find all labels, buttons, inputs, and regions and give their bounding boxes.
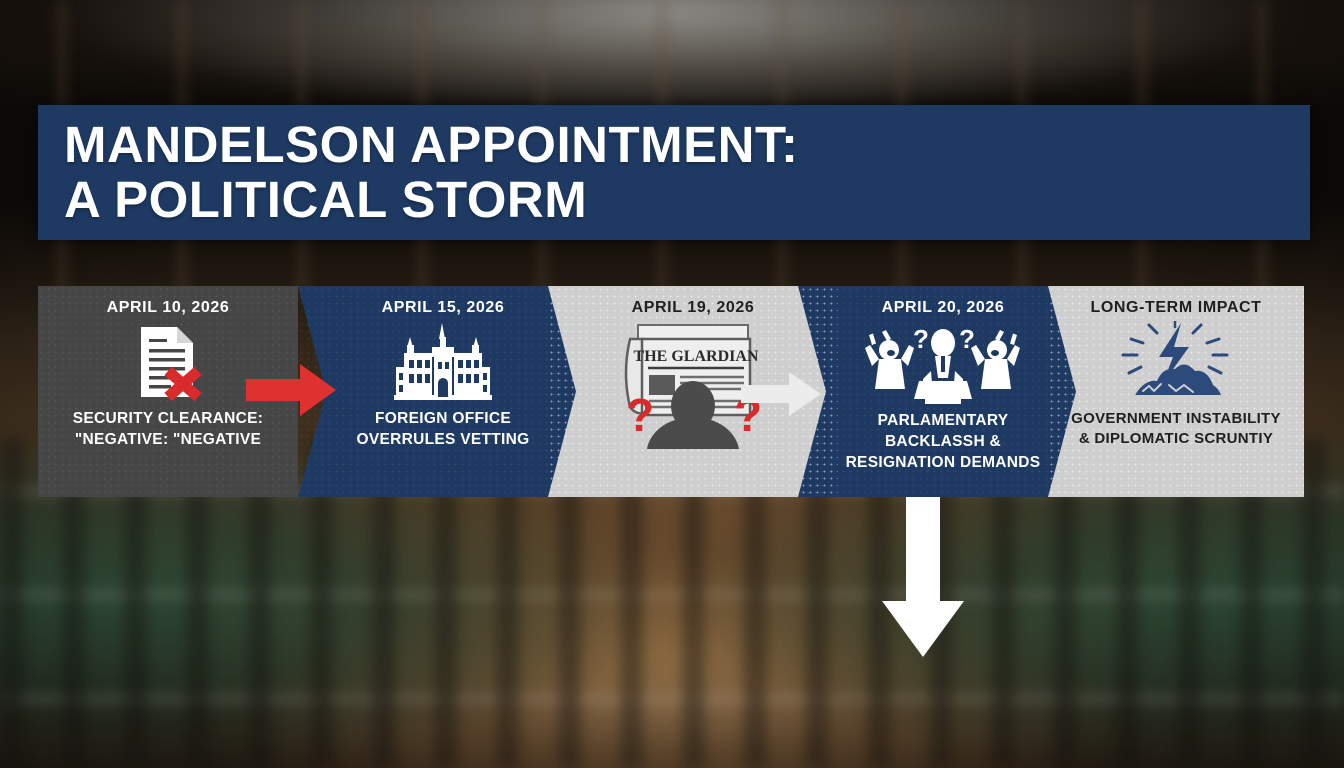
newspaper-masthead: THE GLARDIAN [634,348,759,365]
timeline-step-5[interactable]: LONG-TERM IMPACT [1048,286,1304,497]
down-arrow-white [868,497,978,657]
step-1-label: SECURITY CLEARANCE: "NEGATIVE: "NEGATIVE [63,409,274,451]
step-1-date: APRIL 10, 2026 [107,299,230,317]
protest-podium-icon: ? ? [857,323,1029,407]
step-5-label: GOVERNMENT INSTABILITY & DIPLOMATIC SCRU… [1061,409,1291,450]
title-banner: MANDELSON APPOINTMENT: A POLITICAL STORM [38,105,1310,240]
step-5-date: LONG-TERM IMPACT [1090,299,1261,317]
government-building-icon [390,323,496,401]
step-2-label: FOREIGN OFFICE OVERRULES VETTING [346,409,539,451]
infographic-stage: MANDELSON APPOINTMENT: A POLITICAL STORM… [0,0,1344,768]
question-mark-left: ? [626,389,654,441]
step-3-date: APRIL 19, 2026 [632,299,755,317]
page-title-line-2: A POLITICAL STORM [64,173,1310,227]
question-mark-left-2: ? [913,324,929,354]
timeline-step-2[interactable]: APRIL 15, 2026 [298,286,588,497]
timeline: APRIL 10, 2026 [38,286,1304,497]
connector-arrow-red [246,364,336,416]
page-title-line-1: MANDELSON APPOINTMENT: [64,118,1310,172]
timeline-step-4[interactable]: APRIL 20, 2026 [798,286,1088,497]
question-mark-right-2: ? [959,324,975,354]
lightning-strike-rubble-icon [1121,323,1231,401]
connector-arrow-white [741,372,821,416]
step-4-label: PARLAMENTARY BACKLASSH & RESIGNATION DEM… [836,411,1051,474]
document-with-red-x-icon [131,323,205,401]
step-4-date: APRIL 20, 2026 [882,299,1005,317]
step-2-date: APRIL 15, 2026 [382,299,505,317]
